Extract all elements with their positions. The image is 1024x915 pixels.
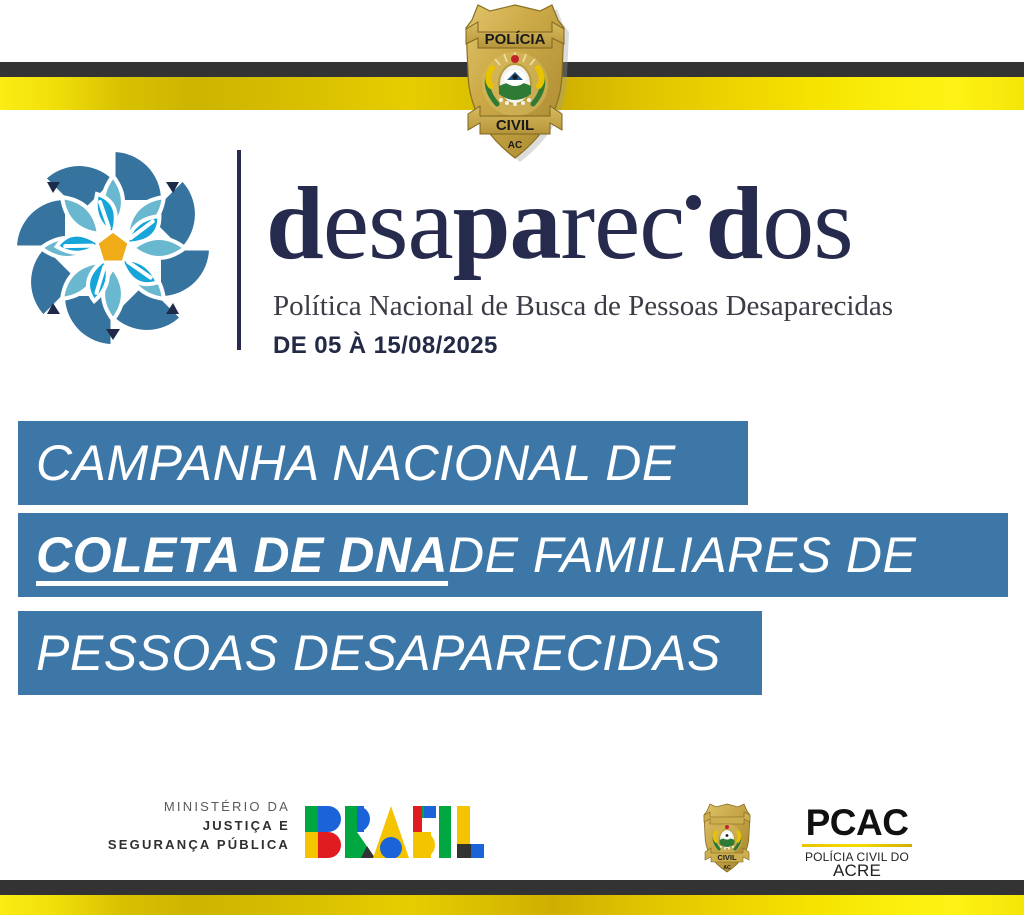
wordmark-seg-1: d <box>266 166 323 281</box>
headline-emphasis-2: COLETA DE DNA <box>36 526 448 584</box>
bottom-dark-stripe <box>0 880 1024 895</box>
svg-text:CIVIL: CIVIL <box>717 853 737 862</box>
ministry-of-justice-text: MINISTÉRIO DA JUSTIÇA E SEGURANÇA PÚBLIC… <box>60 797 290 854</box>
pcac-acronym: PCAC <box>782 804 932 842</box>
ministry-line-2: JUSTIÇA E <box>60 816 290 835</box>
svg-text:AC: AC <box>723 865 731 871</box>
headline-text-3: PESSOAS DESAPARECIDAS <box>36 624 721 682</box>
wordmark-i-dot-icon <box>686 195 701 210</box>
headline-block-1: CAMPANHA NACIONAL DE <box>18 421 748 505</box>
pcac-badge-icon: CIVIL AC <box>698 802 756 874</box>
headline-block-3: PESSOAS DESAPARECIDAS <box>18 611 762 695</box>
ministry-line-1: MINISTÉRIO DA <box>60 797 290 816</box>
brasil-government-logo-icon <box>305 806 487 858</box>
badge-top-label: POLÍCIA <box>485 31 546 48</box>
headline-block-2: COLETA DE DNA DE FAMILIARES DE <box>18 513 1008 597</box>
brand-subtitle: Política Nacional de Busca de Pessoas De… <box>273 290 893 323</box>
wordmark-seg-2: esa <box>323 166 453 281</box>
brand-divider <box>237 150 241 350</box>
campaign-date-range: DE 05 À 15/08/2025 <box>273 332 498 360</box>
headline-text-1: CAMPANHA NACIONAL DE <box>36 434 676 492</box>
wordmark-seg-5: d <box>705 166 762 281</box>
pcac-wordmark: PCAC POLÍCIA CIVIL DO ACRE <box>782 804 932 878</box>
bottom-yellow-stripe <box>0 895 1024 915</box>
desaparecidos-flower-logo-icon <box>8 148 218 348</box>
policia-civil-badge-icon: POLÍCIA <box>452 2 578 162</box>
pcac-subtitle: POLÍCIA CIVIL DO ACRE <box>782 850 932 878</box>
headline-text-2: DE FAMILIARES DE <box>448 526 916 584</box>
wordmark-seg-6: os <box>762 166 852 281</box>
ministry-line-3: SEGURANÇA PÚBLICA <box>60 835 290 854</box>
wordmark-seg-4: rec <box>560 166 684 281</box>
badge-state-label: AC <box>508 140 522 151</box>
pcac-gold-rule <box>802 844 912 847</box>
wordmark-seg-3: pa <box>453 166 561 281</box>
badge-bottom-label: CIVIL <box>496 117 534 134</box>
pcac-subtitle-line-2: ACRE <box>782 864 932 878</box>
campaign-poster: POLÍCIA <box>0 0 1024 915</box>
wordmark-desaparecidos: desaparecdos <box>266 166 1011 281</box>
